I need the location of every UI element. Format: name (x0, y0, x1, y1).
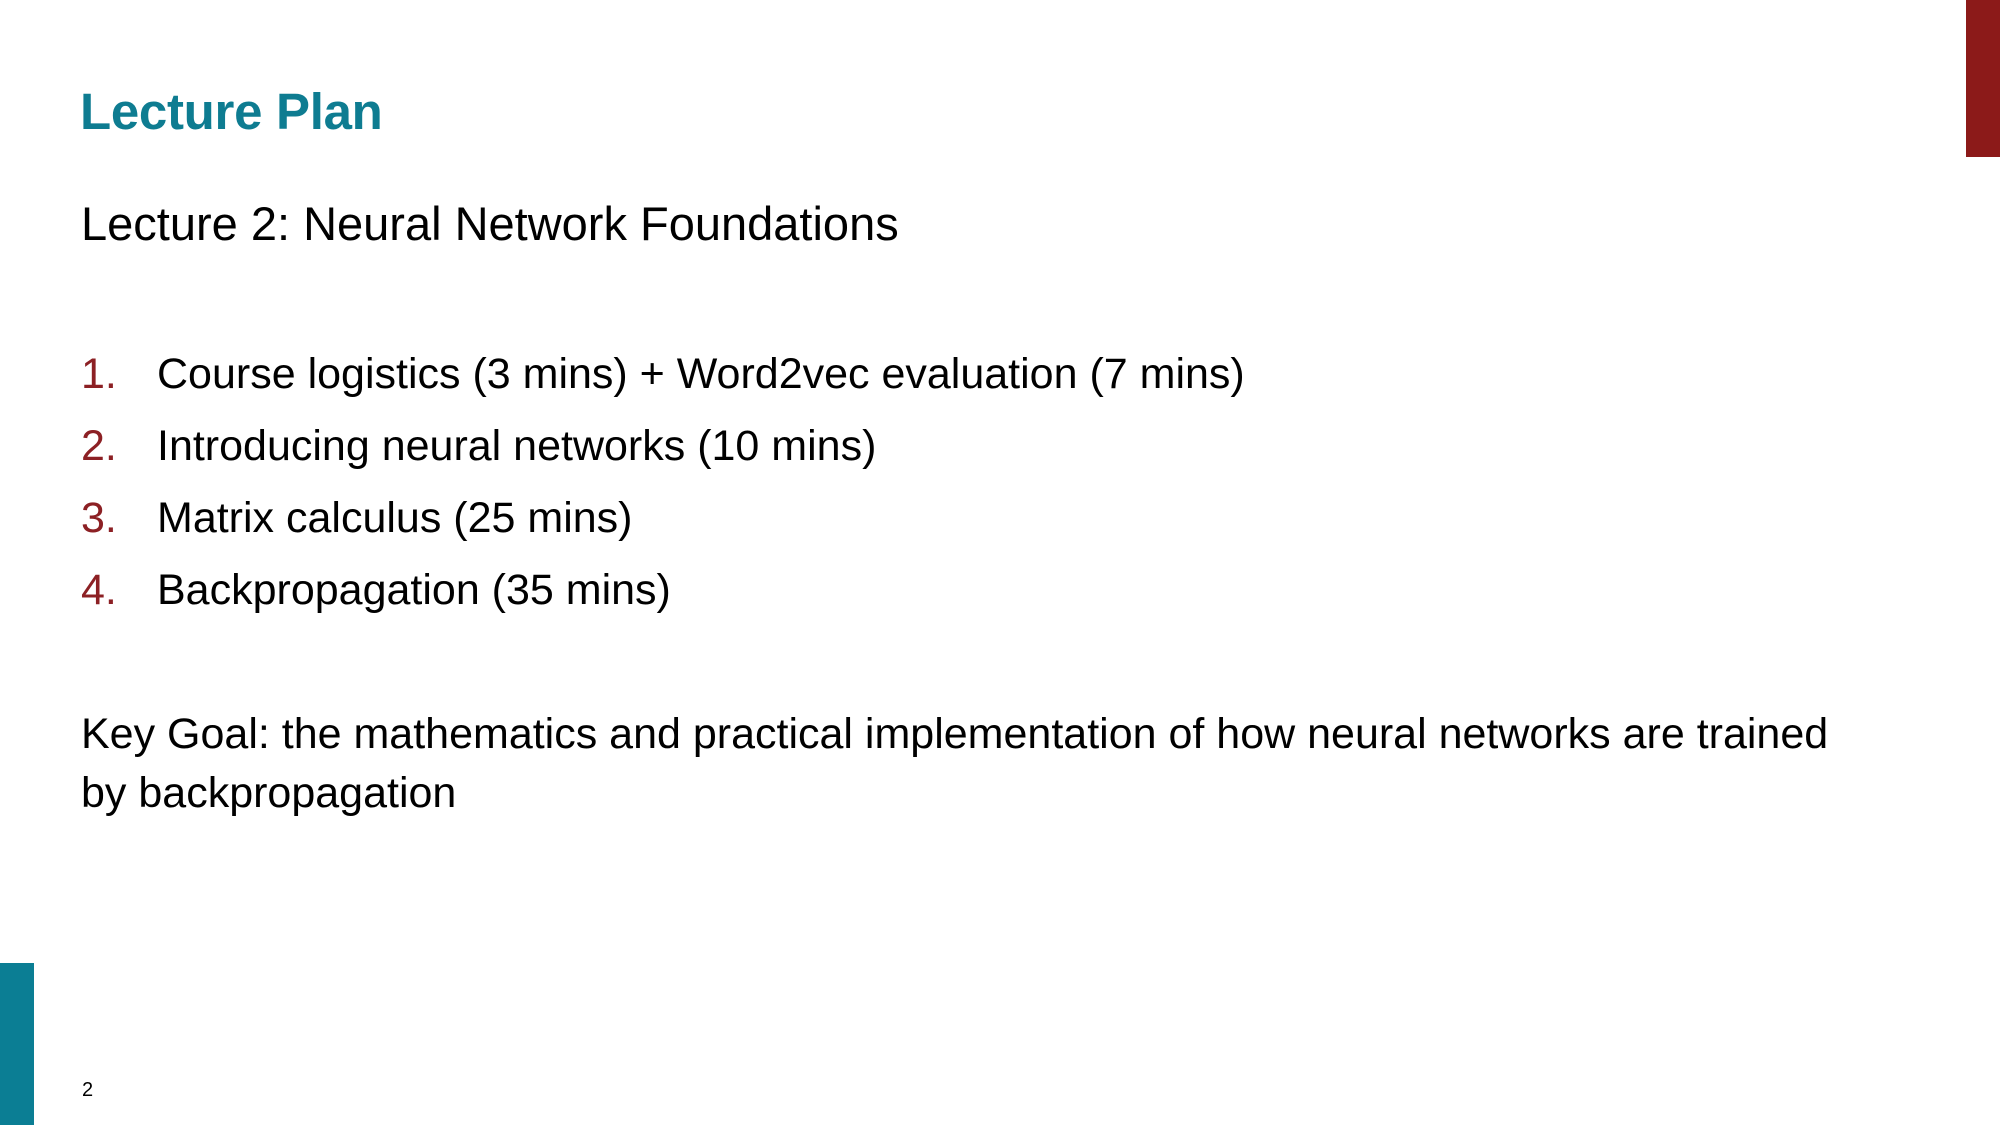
list-item: 2. Introducing neural networks (10 mins) (81, 425, 1245, 497)
page-number: 2 (82, 1080, 93, 1100)
list-item-label: Introducing neural networks (10 mins) (157, 425, 876, 468)
agenda-list: 1. Course logistics (3 mins) + Word2vec … (81, 353, 1245, 641)
accent-bar-bottom-left (0, 963, 34, 1125)
list-item-number: 3. (81, 497, 157, 540)
list-item-label: Backpropagation (35 mins) (157, 569, 671, 612)
accent-bar-top-right (1966, 0, 2000, 157)
list-item-label: Matrix calculus (25 mins) (157, 497, 633, 540)
slide-subtitle: Lecture 2: Neural Network Foundations (81, 196, 899, 252)
key-goal-paragraph: Key Goal: the mathematics and practical … (81, 705, 1841, 823)
list-item-number: 1. (81, 353, 157, 396)
list-item-number: 4. (81, 569, 157, 612)
page-title: Lecture Plan (80, 81, 383, 142)
list-item: 1. Course logistics (3 mins) + Word2vec … (81, 353, 1245, 425)
slide: Lecture Plan Lecture 2: Neural Network F… (0, 0, 2000, 1125)
list-item-number: 2. (81, 425, 157, 468)
list-item: 3. Matrix calculus (25 mins) (81, 497, 1245, 569)
list-item-label: Course logistics (3 mins) + Word2vec eva… (157, 353, 1245, 396)
list-item: 4. Backpropagation (35 mins) (81, 569, 1245, 641)
